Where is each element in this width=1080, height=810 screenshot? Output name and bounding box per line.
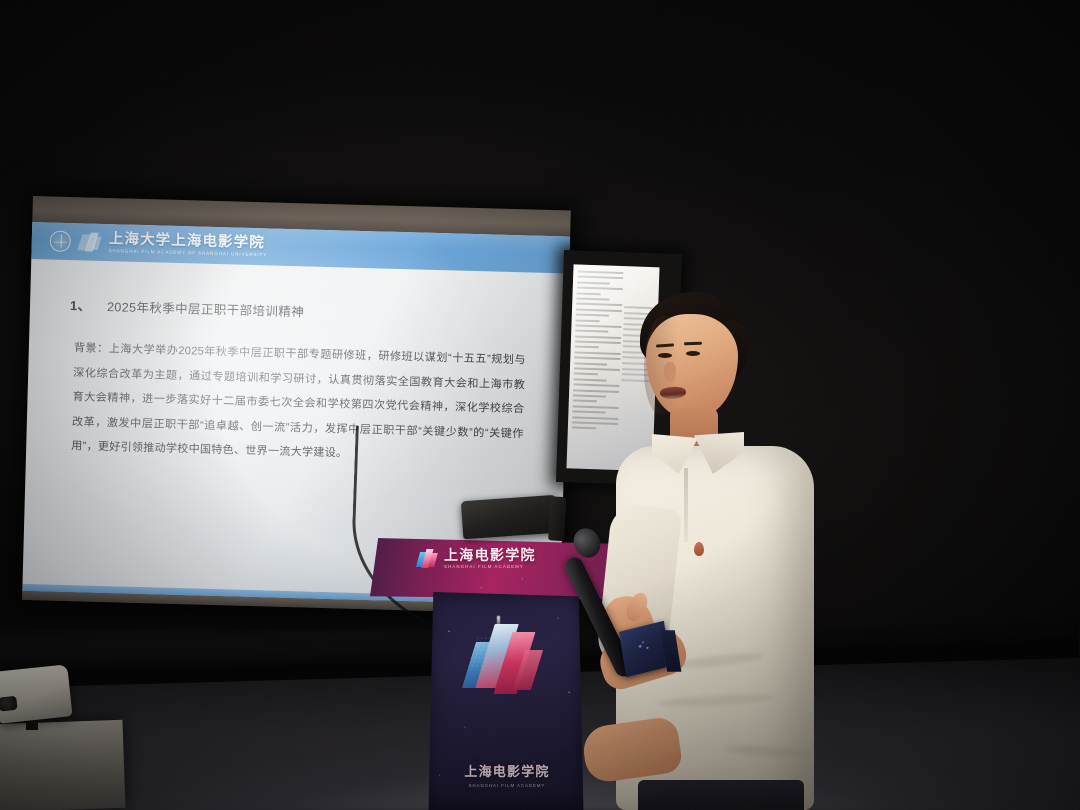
film-strip-mark-icon bbox=[77, 231, 102, 254]
microphone-flag-logo-icon bbox=[633, 635, 657, 658]
presenter-trousers bbox=[638, 780, 804, 810]
slide-section-title-text: 2025年秋季中层正职干部培训精神 bbox=[107, 296, 305, 320]
lectern-front-cn-title: 上海电影学院 bbox=[449, 761, 565, 780]
lectern-front-panel: 上海电影学院 SHANGHAI FILM ACADEMY bbox=[427, 592, 585, 810]
slide-section-title: 1、 2025年秋季中层正职干部培训精神 bbox=[70, 295, 305, 320]
projector bbox=[0, 664, 73, 723]
equipment-cart bbox=[0, 720, 125, 810]
lectern-front-logo: 上海电影学院 SHANGHAI FILM ACADEMY bbox=[449, 761, 565, 788]
presenter-shirt-emblem bbox=[694, 542, 704, 556]
lectern-top-logo: 上海电影学院 SHANGHAI FILM ACADEMY bbox=[418, 548, 536, 570]
presenter-nose bbox=[664, 362, 676, 382]
lectern-top-logo-texts: 上海电影学院 SHANGHAI FILM ACADEMY bbox=[444, 548, 536, 569]
slide-header-texts: 上海大学上海电影学院 SHANGHAI FILM ACADEMY OF SHAN… bbox=[108, 232, 267, 258]
lectern-front-en-title: SHANGHAI FILM ACADEMY bbox=[449, 783, 565, 788]
open-laptop-on-lectern bbox=[461, 495, 559, 540]
presenter-brow-right bbox=[684, 342, 702, 346]
laptop-lid bbox=[461, 495, 559, 540]
presenter-eye-left bbox=[658, 353, 672, 358]
film-strip-mark-icon bbox=[418, 548, 438, 570]
lectern-top-en-title: SHANGHAI FILM ACADEMY bbox=[444, 565, 536, 569]
university-seal-icon bbox=[50, 230, 72, 252]
slide-section-number: 1、 bbox=[70, 295, 92, 315]
presenter bbox=[598, 292, 818, 810]
laptop-hinge bbox=[548, 496, 566, 541]
presenter-shirt-placket bbox=[684, 468, 688, 542]
projector-lens-icon bbox=[0, 696, 18, 712]
presenter-eye-right bbox=[686, 351, 700, 356]
photo-stage: 上海大学上海电影学院 SHANGHAI FILM ACADEMY OF SHAN… bbox=[0, 0, 1080, 810]
lectern-top-cn-title: 上海电影学院 bbox=[444, 548, 536, 562]
film-academy-emblem-icon bbox=[467, 616, 541, 708]
